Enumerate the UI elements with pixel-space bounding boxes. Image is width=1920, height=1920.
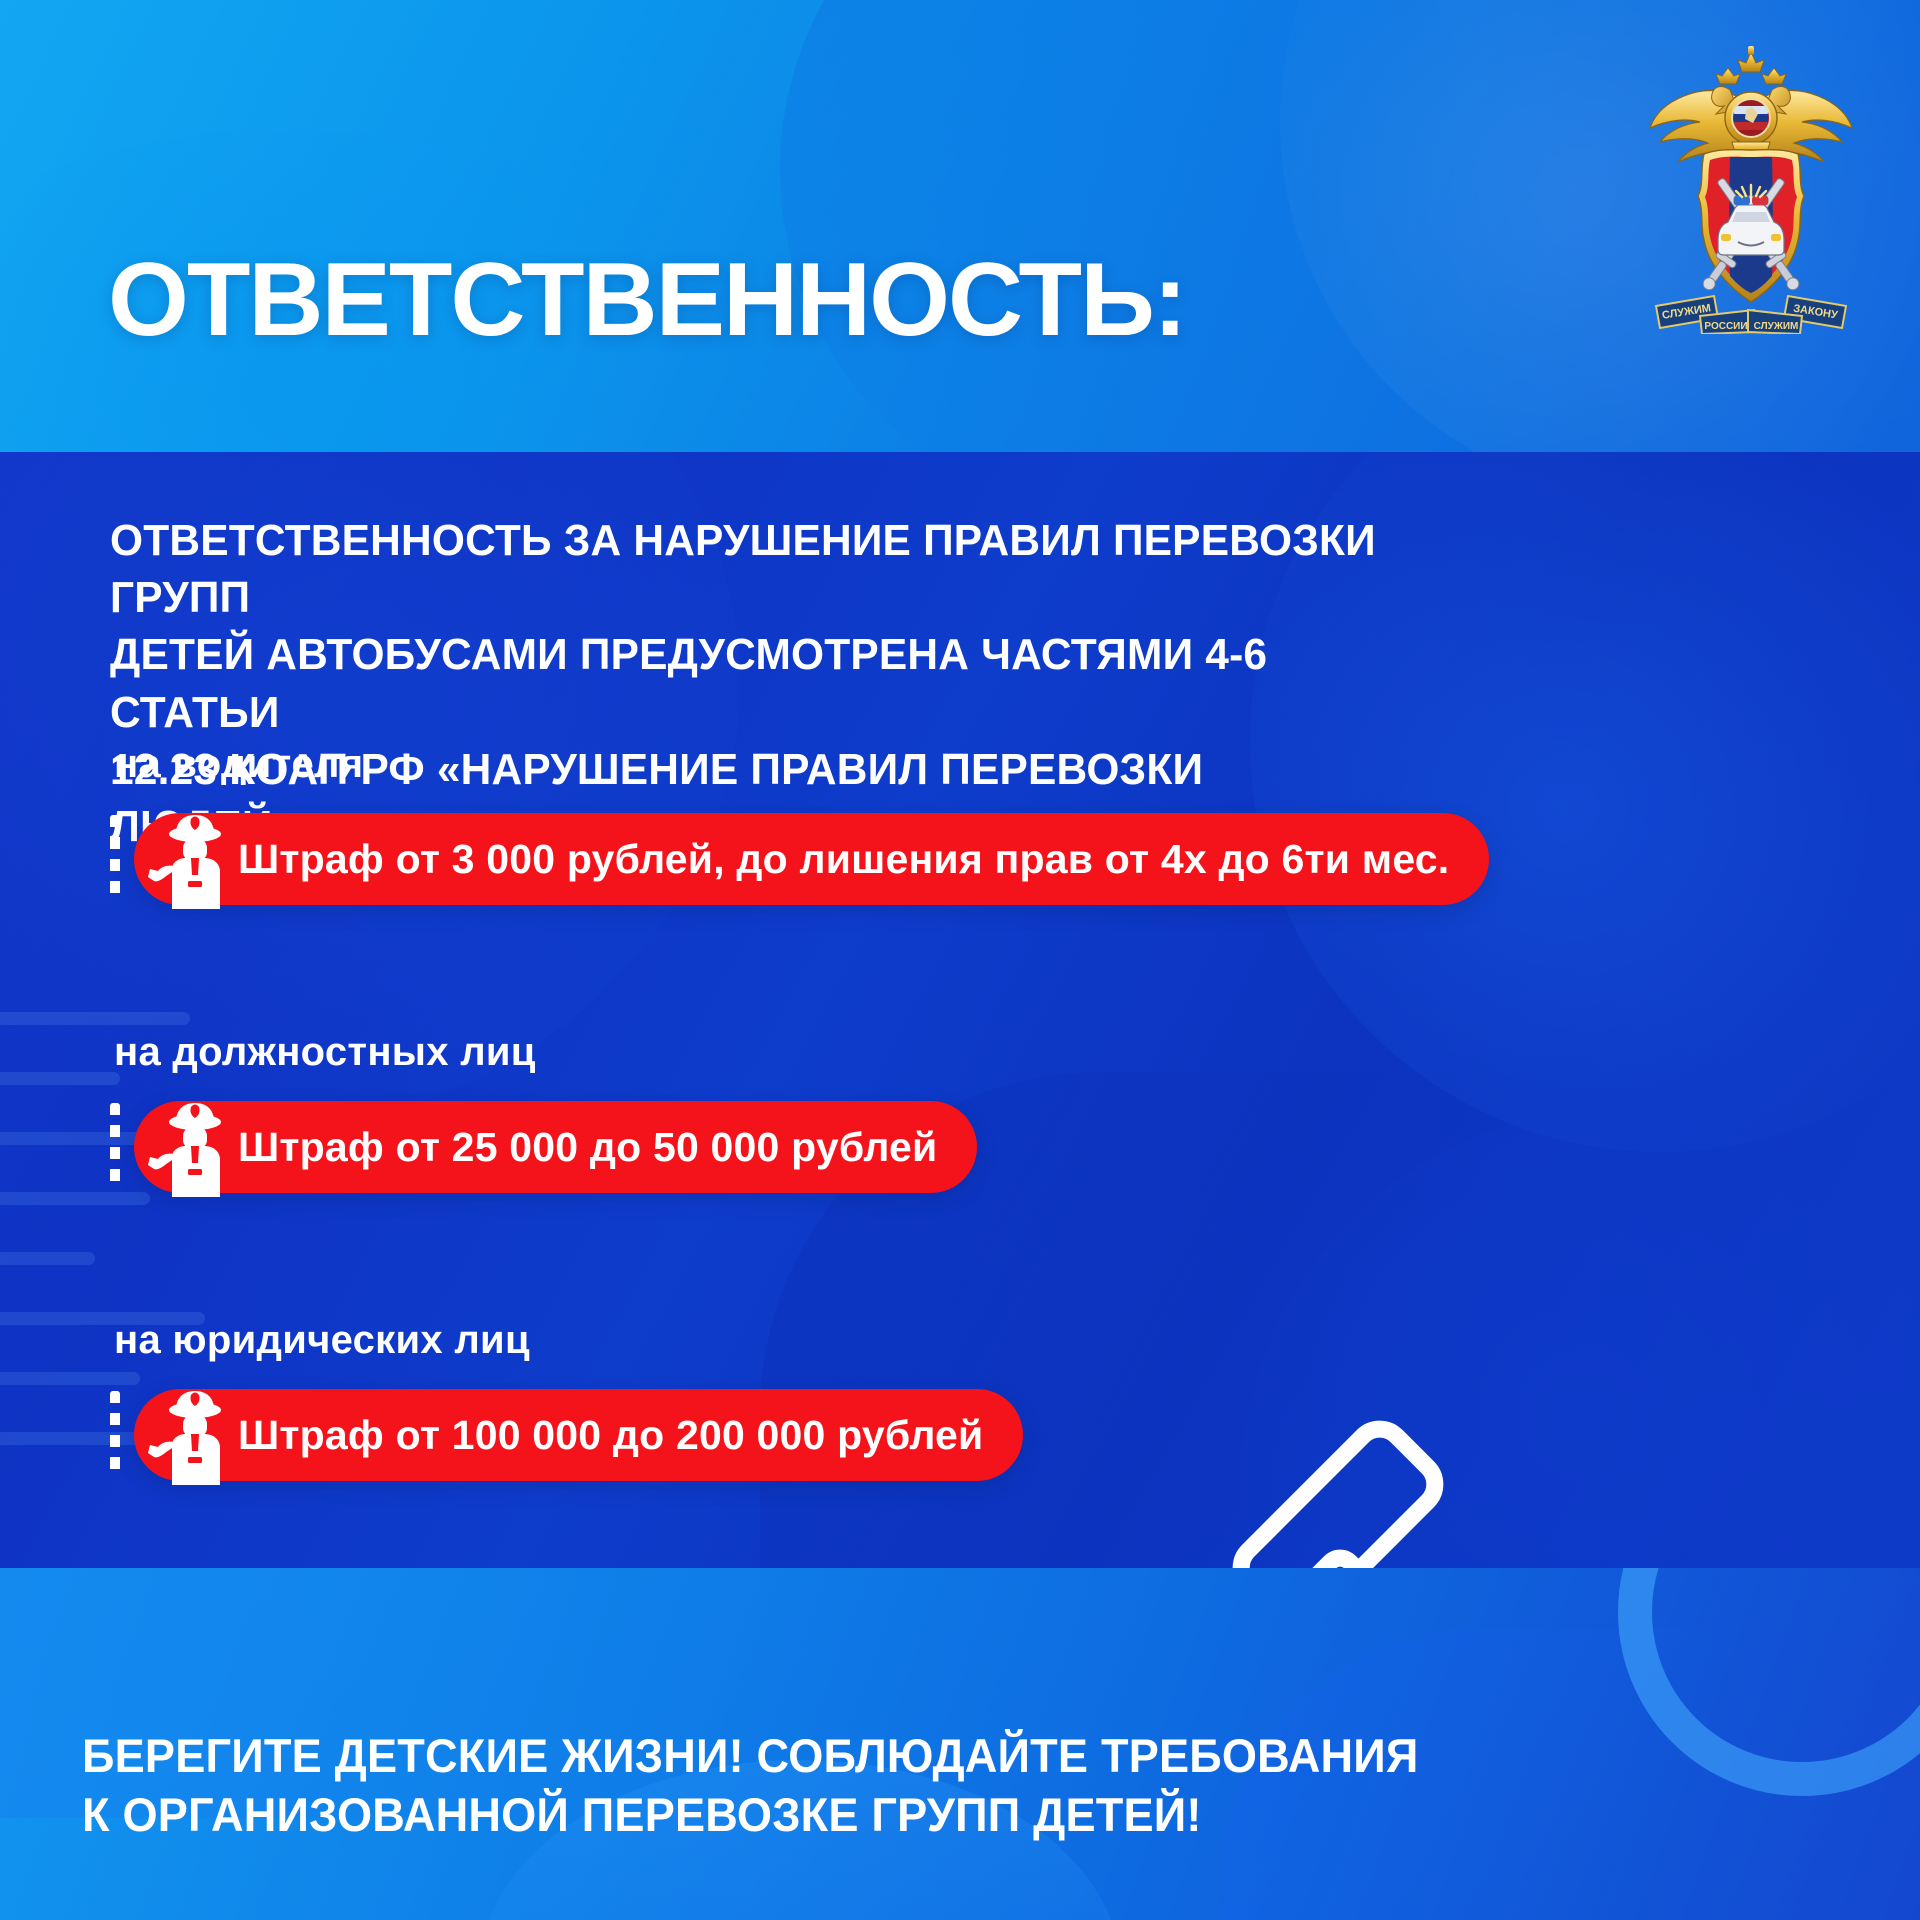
fine-group-legal-entities: на юридических лиц (110, 1318, 1023, 1481)
group-label-officials: на должностных лиц (114, 1030, 977, 1075)
dashed-tick-icon (110, 815, 120, 903)
eagle-medallion (1725, 92, 1777, 144)
pill-row-officials: Штраф от 25 000 до 50 000 рублей (110, 1101, 977, 1193)
footer-message: БЕРЕГИТЕ ДЕТСКИЕ ЖИЗНИ! СОБЛЮДАЙТЕ ТРЕБО… (82, 1726, 1580, 1844)
fine-text-legal-entities: Штраф от 100 000 до 200 000 рублей (238, 1412, 983, 1459)
police-officer-icon (148, 813, 232, 905)
lead-line-2: ДЕТЕЙ АВТОБУСАМИ ПРЕДУСМОТРЕНА ЧАСТЯМИ 4… (110, 626, 1393, 740)
fine-group-driver: на водителя (110, 742, 1489, 905)
fine-pill-officials[interactable]: Штраф от 25 000 до 50 000 рублей (134, 1101, 977, 1193)
mvd-emblem: СЛУЖИМ ЗАКОНУ РОССИИ СЛУЖИМ (1642, 44, 1860, 334)
svg-text:РОССИИ: РОССИИ (1704, 321, 1747, 332)
pill-row-legal-entities: Штраф от 100 000 до 200 000 рублей (110, 1389, 1023, 1481)
dashed-tick-icon (110, 1391, 120, 1479)
fine-text-officials: Штраф от 25 000 до 50 000 рублей (238, 1124, 937, 1171)
police-officer-icon (148, 1389, 232, 1481)
footer-line-1: БЕРЕГИТЕ ДЕТСКИЕ ЖИЗНИ! СОБЛЮДАЙТЕ ТРЕБО… (82, 1726, 1580, 1785)
group-label-driver: на водителя (114, 742, 1489, 787)
fine-pill-driver[interactable]: Штраф от 3 000 рублей, до лишения прав о… (134, 813, 1489, 905)
main-panel: ОТВЕТСТВЕННОСТЬ ЗА НАРУШЕНИЕ ПРАВИЛ ПЕРЕ… (0, 452, 1920, 1568)
header-decor-blob-right (780, 0, 1480, 452)
gavel-icon (1060, 1407, 1490, 1568)
header-band (0, 0, 1920, 452)
svg-text:СЛУЖИМ: СЛУЖИМ (1754, 321, 1799, 332)
dashed-tick-icon (110, 1103, 120, 1191)
poster-root: ОТВЕТСТВЕННОСТЬ: (0, 0, 1920, 1920)
footer-line-2: К ОРГАНИЗОВАННОЙ ПЕРЕВОЗКЕ ГРУПП ДЕТЕЙ! (82, 1785, 1580, 1844)
police-officer-icon (148, 1101, 232, 1193)
footer-band: БЕРЕГИТЕ ДЕТСКИЕ ЖИЗНИ! СОБЛЮДАЙТЕ ТРЕБО… (0, 1568, 1920, 1920)
pill-row-driver: Штраф от 3 000 рублей, до лишения прав о… (110, 813, 1489, 905)
group-label-legal-entities: на юридических лиц (114, 1318, 1023, 1363)
page-title: ОТВЕТСТВЕННОСТЬ: (108, 246, 1185, 355)
fine-pill-legal-entities[interactable]: Штраф от 100 000 до 200 000 рублей (134, 1389, 1023, 1481)
fine-text-driver: Штраф от 3 000 рублей, до лишения прав о… (238, 836, 1449, 883)
fine-group-officials: на должностных лиц (110, 1030, 977, 1193)
lead-line-1: ОТВЕТСТВЕННОСТЬ ЗА НАРУШЕНИЕ ПРАВИЛ ПЕРЕ… (110, 512, 1393, 626)
